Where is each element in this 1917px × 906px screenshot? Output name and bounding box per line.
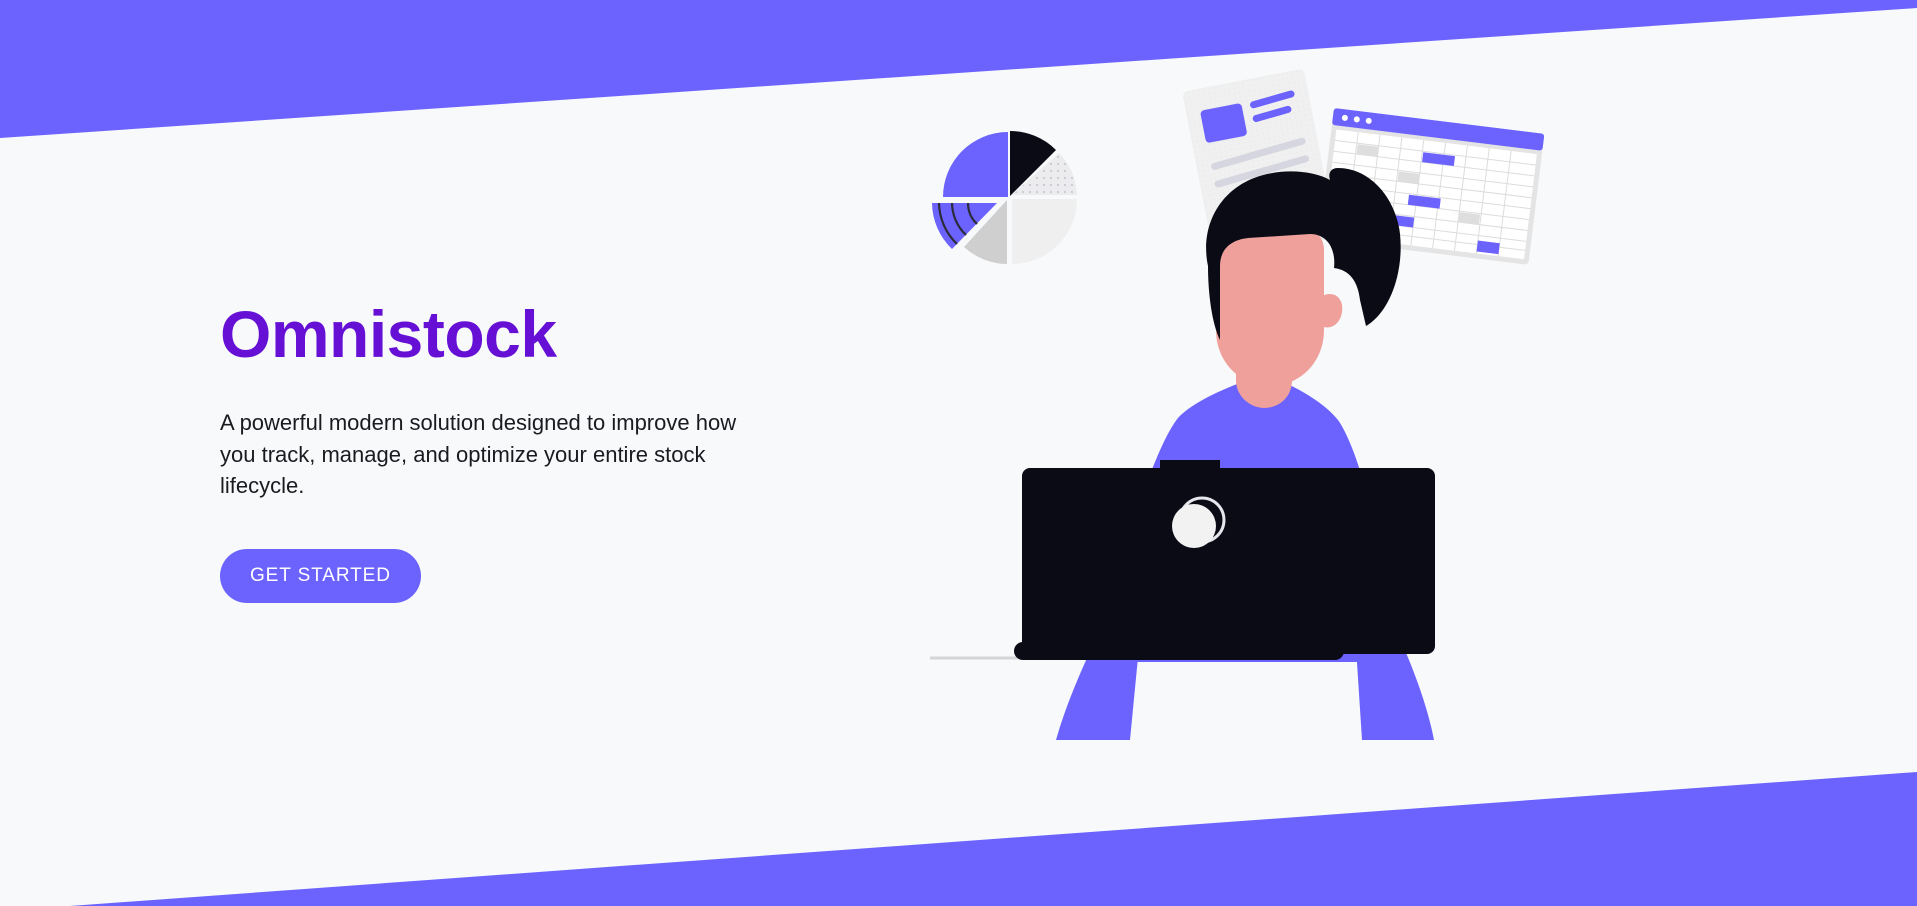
hero-illustration xyxy=(930,50,1910,810)
pie-chart-graphic xyxy=(932,131,1077,264)
hero-section: Omnistock A powerful modern solution des… xyxy=(0,0,1917,906)
hero-subcopy: A powerful modern solution designed to i… xyxy=(220,407,740,501)
laptop-lid xyxy=(1022,468,1435,654)
pie-slice-purple-top-left xyxy=(943,132,1008,197)
person-face xyxy=(1216,230,1324,386)
laptop-graphic xyxy=(930,460,1435,660)
get-started-button[interactable]: GET STARTED xyxy=(220,549,421,603)
hero-copy: Omnistock A powerful modern solution des… xyxy=(220,300,840,603)
laptop-base xyxy=(1014,642,1344,660)
person-ear xyxy=(1322,294,1342,327)
page-title: Omnistock xyxy=(220,300,840,369)
laptop-logo-icon xyxy=(1172,504,1216,548)
pie-slice-light-gray xyxy=(1012,199,1077,264)
